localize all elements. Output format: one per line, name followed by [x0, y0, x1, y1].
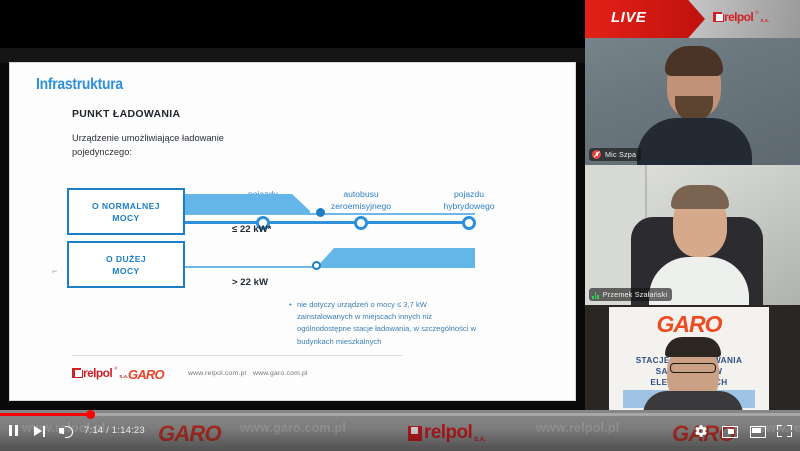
normal-power-band	[180, 194, 310, 220]
slide-footer-relpol-logo: relpol ® S.A.	[72, 366, 128, 380]
slide-footer-url-relpol: www.relpol.com.pl	[188, 370, 246, 377]
normal-power-endpoint-dot	[316, 208, 325, 217]
slide-footer-garo-logo: GARO	[128, 366, 164, 384]
participant-tile-2[interactable]: Przemek Szałański	[585, 165, 800, 305]
progress-played	[0, 413, 90, 416]
high-power-endpoint-dot	[312, 261, 321, 270]
slide-footnote: • nie dotyczy urządzeń o mocy ≤ 3,7 kW z…	[297, 299, 482, 348]
timeline-node-3	[462, 216, 476, 230]
high-power-band	[316, 248, 475, 274]
volume-icon[interactable]	[58, 423, 73, 438]
relpol-sa-text: S.A.	[760, 18, 769, 23]
live-banner-relpol-logo: relpol ® S.A.	[713, 10, 769, 24]
player-left-controls: 7:14 / 1:14:23	[6, 423, 145, 438]
live-label: LIVE	[611, 9, 646, 26]
tile-3-person-body	[643, 391, 743, 410]
slide-title: Infrastruktura	[36, 76, 123, 94]
box-normal-power-line2: MOCY	[112, 212, 139, 224]
timeline-label-2: autobusu zeroemisyjnego	[315, 189, 407, 212]
stage-letterbox	[0, 0, 585, 63]
timeline-label-3: pojazdu hybrydowego	[423, 189, 515, 212]
mouse-cursor-mark: ⌐	[52, 266, 57, 276]
normal-power-value: ≤ 22 kW*	[232, 224, 271, 235]
tile-1-person-hair	[665, 46, 723, 76]
box-high-power-line2: MOCY	[112, 265, 139, 277]
miniplayer-icon[interactable]	[721, 423, 736, 438]
timeline-label-3-line1: pojazdu	[423, 189, 515, 201]
fullscreen-icon[interactable]	[777, 423, 792, 438]
youtube-live-player: Infrastruktura PUNKT ŁADOWANIA Urządzeni…	[0, 0, 800, 451]
timeline-label-2-line2: zeroemisyjnego	[315, 201, 407, 213]
timeline-node-2	[354, 216, 368, 230]
tile-3-person-glasses	[670, 363, 716, 373]
shared-screen-stage: Infrastruktura PUNKT ŁADOWANIA Urządzeni…	[0, 0, 585, 410]
footnote-bullet-icon: •	[289, 299, 292, 311]
participant-tile-1[interactable]: LIVE relpol ® S.A. Mic Szpa	[585, 0, 800, 165]
mic-muted-icon	[592, 150, 601, 159]
participant-rail: LIVE relpol ® S.A. Mic Szpa	[585, 0, 800, 410]
box-normal-power-line1: O NORMALNEJ	[92, 200, 160, 212]
slide-divider	[72, 355, 402, 356]
time-display: 7:14 / 1:14:23	[84, 425, 145, 436]
garo-poster-title: GARO	[609, 311, 769, 338]
slide-heading: PUNKT ŁADOWANIA	[72, 108, 180, 120]
presentation-slide: Infrastruktura PUNKT ŁADOWANIA Urządzeni…	[10, 63, 575, 400]
box-normal-power: O NORMALNEJ MOCY	[67, 188, 185, 235]
mic-active-icon	[592, 291, 599, 299]
player-right-controls	[694, 423, 792, 438]
timeline-label-3-line2: hybrydowego	[423, 201, 515, 213]
relpol-mark-icon	[72, 368, 81, 378]
relpol-registered-icon: ®	[755, 10, 758, 15]
slide-lead-text: Urządzenie umożliwiające ładowanie pojed…	[72, 131, 247, 159]
participant-tile-3[interactable]: GARO STACJE DO ŁADOWANIA SAMOCHODÓW ELEK…	[585, 305, 800, 410]
timeline-axis	[180, 221, 475, 224]
box-high-power: O DUŻEJ MOCY	[67, 241, 185, 288]
relpol-registered-icon: ®	[114, 366, 117, 371]
next-video-icon[interactable]	[32, 423, 47, 438]
footnote-text: nie dotyczy urządzeń o mocy ≤ 3,7 kW zai…	[297, 300, 476, 346]
pause-icon[interactable]	[6, 423, 21, 438]
participant-1-name: Mic Szpa	[605, 150, 636, 159]
tile-3-person-hair	[665, 337, 721, 357]
timeline-label-2-line1: autobusu	[315, 189, 407, 201]
theater-mode-icon[interactable]	[749, 423, 764, 438]
gear-icon[interactable]	[694, 424, 708, 438]
relpol-wordmark: relpol	[724, 10, 753, 24]
tile-1-person-body	[637, 118, 752, 165]
progress-bar[interactable]	[0, 413, 800, 416]
tile-2-person-hair	[671, 185, 729, 209]
progress-scrubber-handle[interactable]	[86, 410, 95, 419]
relpol-mark-icon	[713, 12, 722, 22]
live-banner: LIVE relpol ® S.A.	[585, 0, 800, 38]
high-power-value: > 22 kW	[232, 277, 268, 288]
participant-2-name: Przemek Szałański	[603, 290, 668, 299]
garo-wordmark: GARO	[128, 367, 164, 382]
relpol-sa-text: S.A.	[119, 374, 128, 379]
participant-1-name-badge: Mic Szpa	[589, 148, 641, 161]
slide-footer-url-garo: www.garo.com.pl	[253, 370, 308, 377]
participant-2-name-badge: Przemek Szałański	[589, 288, 672, 301]
box-high-power-line1: O DUŻEJ	[106, 253, 146, 265]
relpol-wordmark: relpol	[83, 366, 112, 380]
player-control-bar: www.relpol.pl GARO www.garo.com.pl relpo…	[0, 410, 800, 451]
